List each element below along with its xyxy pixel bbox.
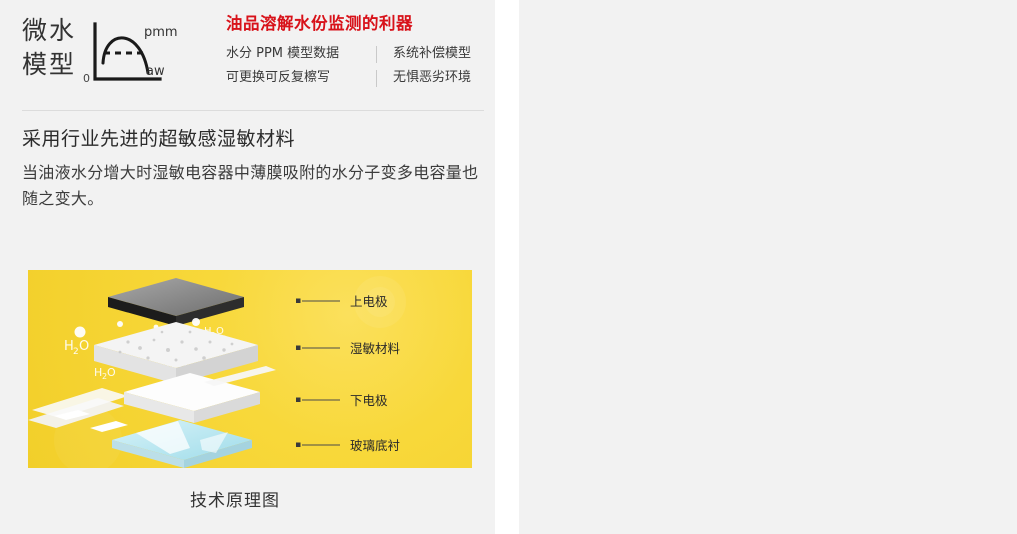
brand-line-2: 模型 (22, 48, 76, 82)
feature-cell: 水分 PPM 模型数据 (226, 42, 376, 66)
feature-row: 水分 PPM 模型数据 系统补偿模型 (226, 42, 486, 66)
svg-text:aw: aw (146, 64, 165, 79)
right-panel: 快速检测 专利微量水分数据模型、精度高效果好连续二十四小时稳定 检测油中水活性(… (519, 0, 1017, 534)
brand-lockup: 微水 模型 0 pmm aw (22, 14, 178, 95)
layer-label: 湿敏材料 (350, 341, 401, 356)
micro-water-model-curve-icon: 0 pmm aw (82, 16, 178, 95)
feature-divider (376, 46, 377, 63)
feature-divider (376, 70, 377, 87)
svg-text:O: O (107, 366, 116, 379)
promo-two-panel-layout: 微水 模型 0 pmm aw 油品溶解水份监测的利器 (0, 0, 1017, 534)
left-section-title: 采用行业先进的超敏感湿敏材料 (22, 124, 484, 154)
headline-block: 油品溶解水份监测的利器 水分 PPM 模型数据 系统补偿模型 可更换可反复檫写 … (226, 12, 486, 90)
left-section-body: 当油液水分增大时湿敏电容器中薄膜吸附的水分子变多电容量也随之变大。 (22, 160, 484, 212)
feature-cell: 系统补偿模型 (393, 42, 471, 66)
svg-text:pmm: pmm (144, 25, 178, 40)
svg-text:O: O (79, 339, 89, 354)
layer-label: 下电极 (350, 393, 388, 408)
left-panel: 微水 模型 0 pmm aw 油品溶解水份监测的利器 (0, 0, 495, 534)
feature-cell: 无惧恶劣环境 (393, 66, 471, 90)
sensor-structure-figure: H2O H2O H2O H2O (28, 270, 472, 468)
feature-grid: 水分 PPM 模型数据 系统补偿模型 可更换可反复檫写 无惧恶劣环境 (226, 42, 486, 90)
left-body: 采用行业先进的超敏感湿敏材料 当油液水分增大时湿敏电容器中薄膜吸附的水分子变多电… (22, 124, 484, 212)
svg-text:0: 0 (83, 72, 90, 85)
feature-cell: 可更换可反复檫写 (226, 66, 376, 90)
brand-line-1: 微水 (22, 14, 76, 48)
feature-row: 可更换可反复檫写 无惧恶劣环境 (226, 66, 486, 90)
layer-label: 上电极 (350, 294, 388, 309)
layer-label: 玻璃底衬 (350, 438, 400, 453)
headline: 油品溶解水份监测的利器 (226, 12, 486, 36)
brand-text: 微水 模型 (22, 14, 76, 82)
left-caption: 技术原理图 (190, 486, 280, 511)
svg-text:2: 2 (73, 347, 79, 357)
header-divider (22, 110, 484, 111)
left-header: 微水 模型 0 pmm aw 油品溶解水份监测的利器 (22, 12, 484, 104)
